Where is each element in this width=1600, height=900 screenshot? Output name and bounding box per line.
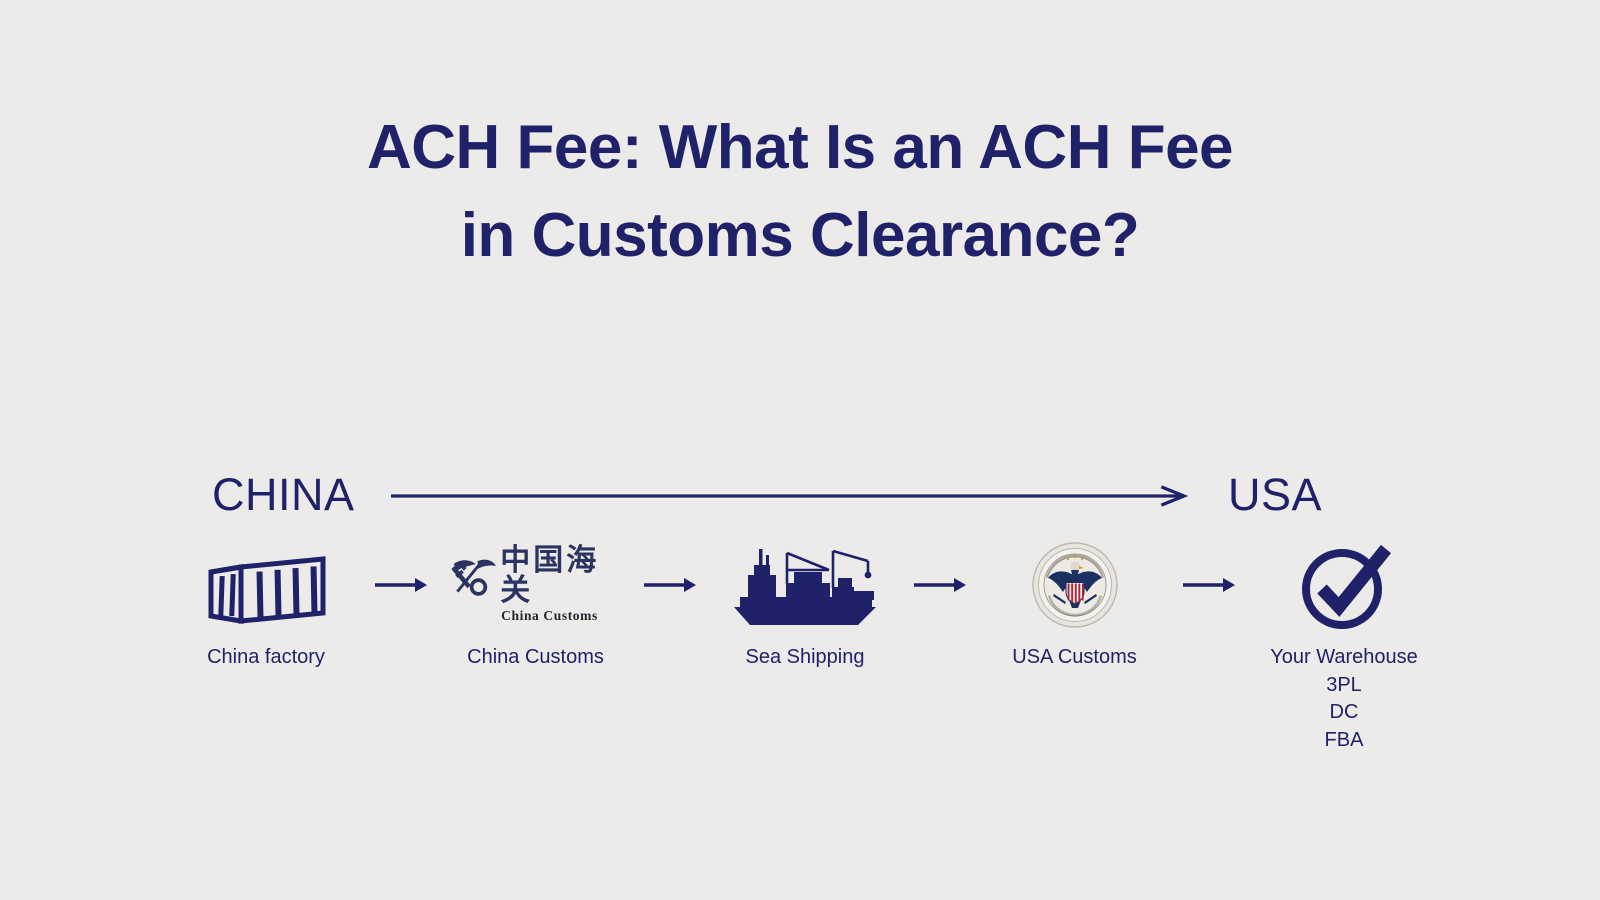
flow-step-label: USA Customs <box>1012 644 1136 672</box>
cbp-seal-icon <box>1032 536 1118 634</box>
china-customs-logo-icon: 中国海关 China Customs <box>450 536 622 634</box>
right-arrow-icon <box>914 576 966 594</box>
flow-step-sublabel-dc: DC <box>1330 699 1359 727</box>
supply-chain-flow: China factory <box>180 536 1430 754</box>
flow-step-sublabel-fba: FBA <box>1325 727 1364 755</box>
flow-step-sea-shipping: Sea Shipping <box>719 536 891 672</box>
flow-step-label: Your Warehouse <box>1270 644 1418 672</box>
right-arrow-icon <box>375 576 427 594</box>
page-title-line-1: ACH Fee: What Is an ACH Fee <box>0 104 1600 192</box>
caduceus-key-emblem-icon <box>450 553 498 599</box>
flow-step-label: Sea Shipping <box>746 644 865 672</box>
shipping-container-icon <box>205 536 327 634</box>
circle-check-icon <box>1294 536 1394 634</box>
origin-country-label: CHINA <box>212 472 355 517</box>
flow-step-usa-customs: USA Customs <box>989 536 1161 672</box>
right-arrow-icon <box>1183 576 1235 594</box>
right-arrow-icon <box>644 576 696 594</box>
flow-step-label: China Customs <box>467 644 604 672</box>
china-customs-hanzi: 中国海关 <box>500 546 621 606</box>
destination-country-label: USA <box>1228 472 1322 517</box>
page-title: ACH Fee: What Is an ACH Fee in Customs C… <box>0 104 1600 280</box>
page-title-line-2: in Customs Clearance? <box>0 192 1600 280</box>
connector-3 <box>909 536 971 634</box>
flow-step-sublabel-3pl: 3PL <box>1326 672 1362 700</box>
china-customs-logo-caption: China Customs <box>501 608 598 624</box>
connector-1 <box>370 536 432 634</box>
flow-header: CHINA USA <box>212 466 1322 522</box>
long-right-arrow-icon <box>391 484 1192 508</box>
flow-step-china-factory: China factory <box>180 536 352 672</box>
flow-step-your-warehouse: Your Warehouse 3PL DC FBA <box>1258 536 1430 754</box>
connector-4 <box>1178 536 1240 634</box>
connector-2 <box>639 536 701 634</box>
cargo-ship-icon <box>730 536 880 634</box>
flow-step-china-customs: 中国海关 China Customs China Customs <box>450 536 622 672</box>
flow-step-label: China factory <box>207 644 325 672</box>
